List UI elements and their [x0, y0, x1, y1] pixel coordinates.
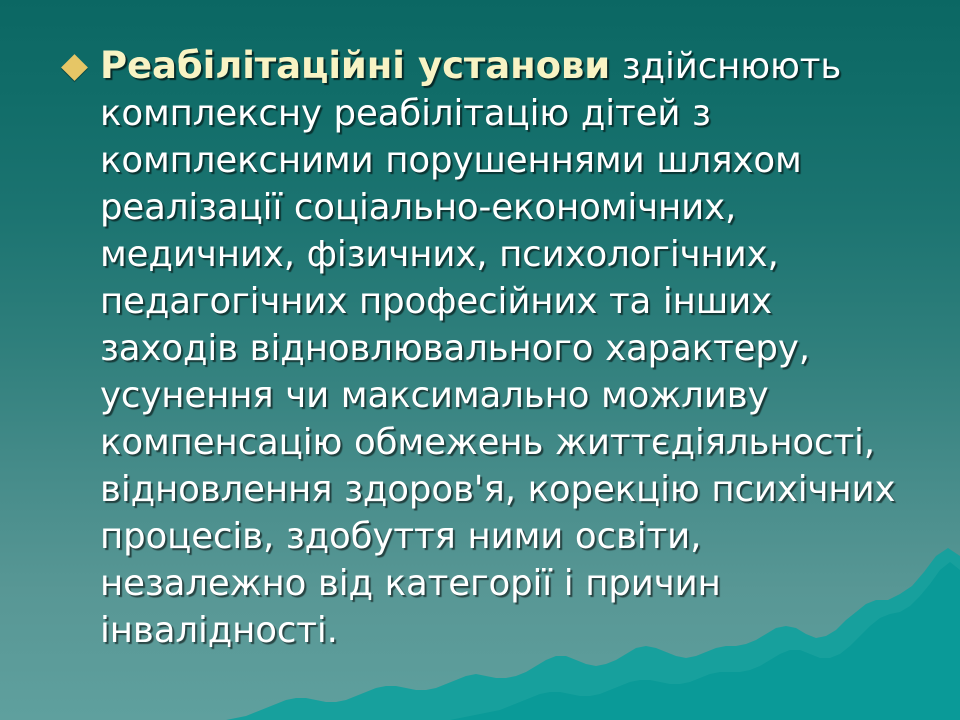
- bullet-lead-term: Реабілітаційні установи: [100, 44, 610, 87]
- slide-content: Реабілітаційні установи здійснюють компл…: [0, 0, 960, 720]
- bullet-body-text: здійснюють комплексну реабілітацію дітей…: [100, 46, 895, 651]
- presentation-slide: Реабілітаційні установи здійснюють компл…: [0, 0, 960, 720]
- bullet-item: Реабілітаційні установи здійснюють компл…: [62, 42, 902, 654]
- bullet-paragraph: Реабілітаційні установи здійснюють компл…: [62, 42, 902, 654]
